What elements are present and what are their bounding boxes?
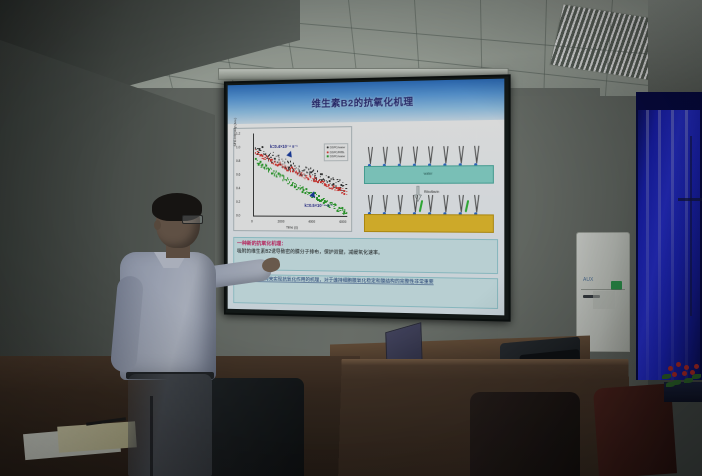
chart-xtick: 4000 (308, 220, 315, 224)
leaf-icon (666, 382, 675, 387)
leaf-icon (662, 374, 671, 379)
chart-data-point (347, 191, 348, 192)
chart-data-point (288, 179, 289, 180)
chart-data-point (275, 156, 276, 157)
chart-data-point (271, 168, 272, 169)
chart-data-point (299, 166, 300, 167)
chart-data-point (270, 153, 271, 154)
chart-data-point (262, 147, 263, 148)
water-layer: water (364, 165, 494, 184)
leaf-icon (692, 374, 701, 379)
chart-data-point (345, 184, 346, 185)
chart-data-point (275, 171, 276, 172)
chart-data-point (260, 150, 261, 151)
chart-data-point (334, 190, 335, 191)
water-layer-label: water (365, 171, 493, 176)
chart-data-point (265, 165, 266, 166)
chart-data-point (335, 205, 336, 206)
chart-ytick: 0.8 (236, 159, 240, 163)
chart-data-point (301, 172, 302, 173)
chart-data-point (322, 173, 323, 174)
eyeglasses-icon (182, 215, 203, 224)
chart-legend-entry: DSPC/water (326, 154, 345, 159)
lipid-tail-icon (369, 195, 372, 212)
membrane-diagram: water Riboflavin (356, 124, 500, 237)
chart-data-point (308, 179, 309, 180)
chart-data-point (302, 187, 303, 188)
chart-data-point (326, 200, 327, 201)
presenter-leg-seam (150, 396, 153, 476)
chart-data-point (256, 160, 257, 161)
chart-data-point (278, 157, 279, 158)
chart-data-point (294, 165, 295, 166)
chart-data-point (343, 185, 344, 186)
significance-body: 通过调节膜结构来实现抗氧化作用的机理，对于维持细胞膜氧化稳定和膜结构的完整性非常… (237, 277, 494, 288)
chart-data-point (262, 164, 263, 165)
chart-data-point (268, 161, 269, 162)
chart-xtick: 2000 (278, 220, 285, 224)
chart-data-point (268, 171, 269, 172)
projection-screen[interactable]: 维生素B2的抗氧化机理 SFG Intensity (a.u.) Time (s… (224, 74, 511, 321)
chart-data-point (274, 172, 275, 173)
lipid-tail-icon (399, 147, 402, 164)
presentation-slide: 维生素B2的抗氧化机理 SFG Intensity (a.u.) Time (s… (228, 79, 505, 316)
chart-data-point (312, 174, 313, 175)
chart-data-point (305, 193, 306, 194)
legend-label: DSPC/water (330, 154, 346, 158)
riboflavin-layer (364, 214, 494, 233)
chart-data-point (271, 159, 272, 160)
chart-data-point (273, 152, 274, 153)
chart-data-point (310, 168, 311, 169)
chart-data-point (316, 194, 317, 195)
chart-ytick: 1.2 (236, 132, 240, 136)
chart-data-point (288, 162, 289, 163)
air-conditioner-unit: AUX (576, 232, 630, 352)
chart-data-point (256, 154, 257, 155)
lipid-tail-icon (476, 195, 479, 212)
chart-data-point (263, 151, 264, 152)
chart-data-point (330, 179, 331, 180)
chart-annotation-k1: k=0.4×10⁻⁴ s⁻¹ (270, 144, 298, 149)
chart-data-point (274, 158, 275, 159)
monolayer-bottom (356, 124, 500, 126)
chair-foreground-center (470, 392, 580, 476)
side-table-top (342, 359, 629, 365)
chart-data-point (272, 155, 273, 156)
legend-swatch (326, 147, 328, 149)
lipid-tail-icon (430, 146, 433, 163)
window-mullion-vertical (690, 136, 692, 316)
chart-data-point (284, 161, 285, 162)
chart-data-point (317, 171, 318, 172)
ac-panel-seam (581, 289, 625, 290)
chart-legend: DSPC/waterDSPC/RfBLDSPC/water (323, 143, 348, 161)
chart-data-point (340, 188, 341, 189)
chart-data-point (285, 158, 286, 159)
chart-data-point (260, 161, 261, 162)
chart-annotation-k2: k=0.5×10⁻⁴ s⁻¹ (304, 203, 332, 208)
chart-data-point (295, 185, 296, 186)
legend-swatch (326, 156, 328, 158)
lipid-tail-icon (445, 146, 448, 163)
chart-data-point (303, 189, 304, 190)
chart-data-point (269, 154, 270, 155)
chart-data-point (277, 161, 278, 162)
chart-data-point (320, 176, 321, 177)
chart-data-point (278, 159, 279, 160)
chart-data-point (323, 181, 324, 182)
chart-data-point (306, 188, 307, 189)
flower-icon (672, 372, 677, 377)
chart-data-point (327, 181, 328, 182)
chart-data-point (317, 181, 318, 182)
riboflavin-label: Riboflavin (424, 190, 439, 194)
chart-data-point (328, 177, 329, 178)
sfg-decay-chart: SFG Intensity (a.u.) Time (s) 0.00.20.40… (233, 126, 352, 232)
flower-icon (694, 364, 699, 369)
chart-data-point (275, 161, 276, 162)
chart-data-point (311, 180, 312, 181)
chart-data-point (345, 188, 346, 189)
chart-data-point (254, 149, 255, 150)
presenter-legs (128, 374, 212, 476)
lipid-tail-icon (414, 146, 417, 163)
chart-data-point (336, 182, 337, 183)
chart-data-point (293, 163, 294, 164)
chart-data-point (296, 189, 297, 190)
lipid-tail-icon (460, 195, 463, 212)
lipid-tail-icon (460, 146, 463, 163)
chart-data-point (292, 171, 293, 172)
chart-data-point (344, 190, 345, 191)
chart-x-axis-label: Time (s) (234, 225, 351, 230)
chart-xtick: 6000 (339, 220, 346, 224)
chart-data-point (347, 212, 348, 213)
lipid-tail-icon (369, 147, 372, 164)
flower-icon (684, 365, 689, 370)
window-area (636, 92, 702, 380)
lipid-tail-icon (399, 195, 402, 212)
slide-body: SFG Intensity (a.u.) Time (s) 0.00.20.40… (228, 120, 505, 316)
chart-data-point (346, 194, 347, 195)
chart-data-point (278, 154, 279, 155)
chart-data-point (305, 169, 306, 170)
chart-ytick: 0.4 (236, 186, 240, 190)
chart-ytick: 1.0 (236, 145, 240, 149)
chart-data-point (338, 181, 339, 182)
chart-ytick: 0.6 (236, 173, 240, 177)
flower-icon (668, 366, 673, 371)
chart-data-point (342, 182, 343, 183)
chart-data-point (290, 171, 291, 172)
chart-data-point (258, 164, 259, 165)
presenter (110, 196, 250, 476)
lipid-tail-icon (384, 147, 387, 164)
photo-scene: 维生素B2的抗氧化机理 SFG Intensity (a.u.) Time (s… (0, 0, 702, 476)
conclusion-heading: 一种新的抗氧化机理： (237, 240, 494, 249)
chart-x-ticks: 0200040006000 (234, 127, 351, 129)
legend-swatch (326, 151, 328, 153)
chart-data-point (339, 179, 340, 180)
ac-brand-label: AUX (583, 277, 593, 283)
chart-data-point (310, 177, 311, 178)
chart-data-point (290, 161, 291, 162)
chart-data-point (295, 186, 296, 187)
chart-data-point (289, 182, 290, 183)
chart-data-point (344, 193, 345, 194)
chart-data-point (333, 179, 334, 180)
lipid-tail-icon (430, 195, 433, 212)
chart-data-point (329, 180, 330, 181)
lipid-tail-icon (445, 195, 448, 212)
flower-icon (676, 362, 681, 367)
ac-vent-panel (593, 291, 615, 309)
lipid-tail-icon (476, 146, 479, 163)
chart-data-point (323, 198, 324, 199)
chart-data-point (326, 175, 327, 176)
monolayer-top (356, 124, 500, 126)
chart-y-ticks: 0.00.20.40.60.81.01.2 (234, 127, 351, 129)
riboflavin-molecule-icon (465, 200, 470, 212)
presenter-ear (154, 220, 161, 230)
lipid-tail-icon (384, 195, 387, 212)
riboflavin-layer-label (365, 220, 493, 221)
chart-data-point (313, 170, 314, 171)
chart-data-point (334, 208, 335, 209)
chart-data-point (265, 159, 266, 160)
chart-data-point (287, 183, 288, 184)
chart-data-point (302, 191, 303, 192)
flower-icon (682, 371, 687, 376)
chart-xtick: 0 (251, 219, 253, 223)
chart-data-point (261, 166, 262, 167)
blue-curtain (638, 110, 700, 380)
slide-text-block-significance: 通过调节膜结构来实现抗氧化作用的机理，对于维持细胞膜氧化稳定和膜结构的完整性非常… (233, 274, 498, 309)
chart-data-point (276, 176, 277, 177)
chart-data-point (328, 184, 329, 185)
chart-data-point (270, 157, 271, 158)
chart-data-point (272, 163, 273, 164)
chart-data-point (290, 179, 291, 180)
chart-data-point (318, 195, 319, 196)
chart-data-point (344, 209, 345, 210)
